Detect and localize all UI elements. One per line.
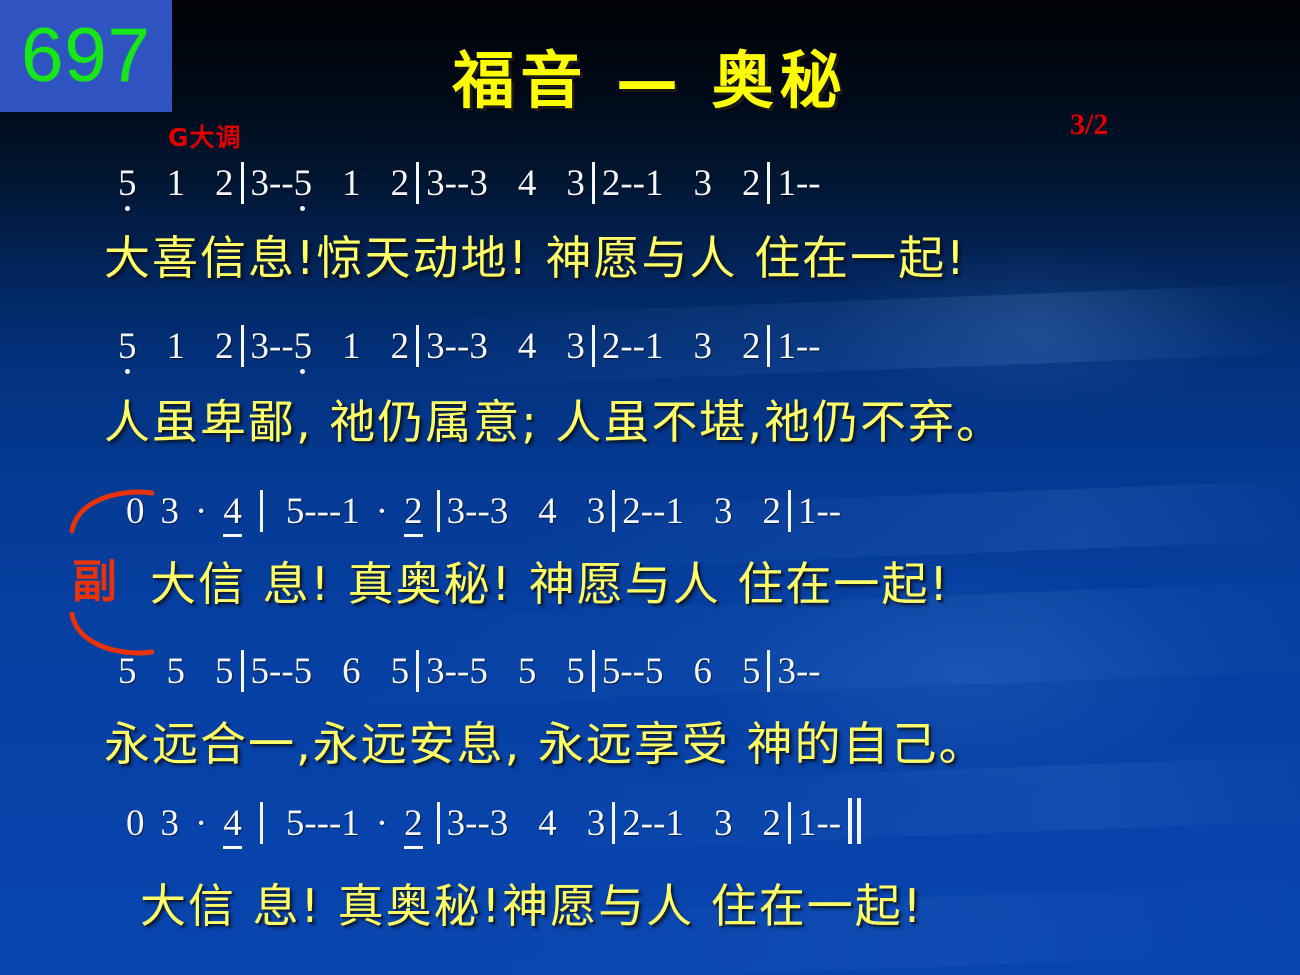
- lyrics-line-verse-1: 大喜信息!惊天动地! 神愿与人 住在一起!: [104, 222, 967, 288]
- lyrics-line-chorus-1: 大信 息! 真奥秘! 神愿与人 住在一起!: [150, 548, 950, 614]
- hymn-slide: 697 福音 — 奥秘 G大调 3/2 5123--5123--3432--13…: [0, 0, 1300, 975]
- notation-line-chorus-3: 03·45---1·23--3432--1321--: [126, 798, 861, 854]
- notation-line-verse-2: 5123--5123--3432--1321--: [118, 325, 821, 368]
- notation-line-chorus-1: 03·45---1·23--3432--1321--: [126, 490, 841, 537]
- page-title: 福音 — 奥秘: [0, 30, 1300, 120]
- time-signature-label: 3/2: [1070, 108, 1108, 142]
- lyrics-line-chorus-3: 大信 息! 真奥秘!神愿与人 住在一起!: [140, 870, 923, 936]
- notation-line-chorus-2: 5555--5653--5555--5653--: [118, 650, 821, 693]
- chorus-marker: 副: [72, 545, 117, 610]
- double-barline-icon: [848, 798, 861, 854]
- lyrics-line-verse-2: 人虽卑鄙, 祂仍属意; 人虽不堪,祂仍不弃。: [104, 386, 1004, 452]
- key-signature-label: G大调: [168, 118, 242, 154]
- notation-line-verse-1: 5123--5123--3432--1321--: [118, 162, 821, 205]
- lyrics-line-chorus-2: 永远合一,永远安息, 永远享受 神的自己。: [104, 708, 987, 774]
